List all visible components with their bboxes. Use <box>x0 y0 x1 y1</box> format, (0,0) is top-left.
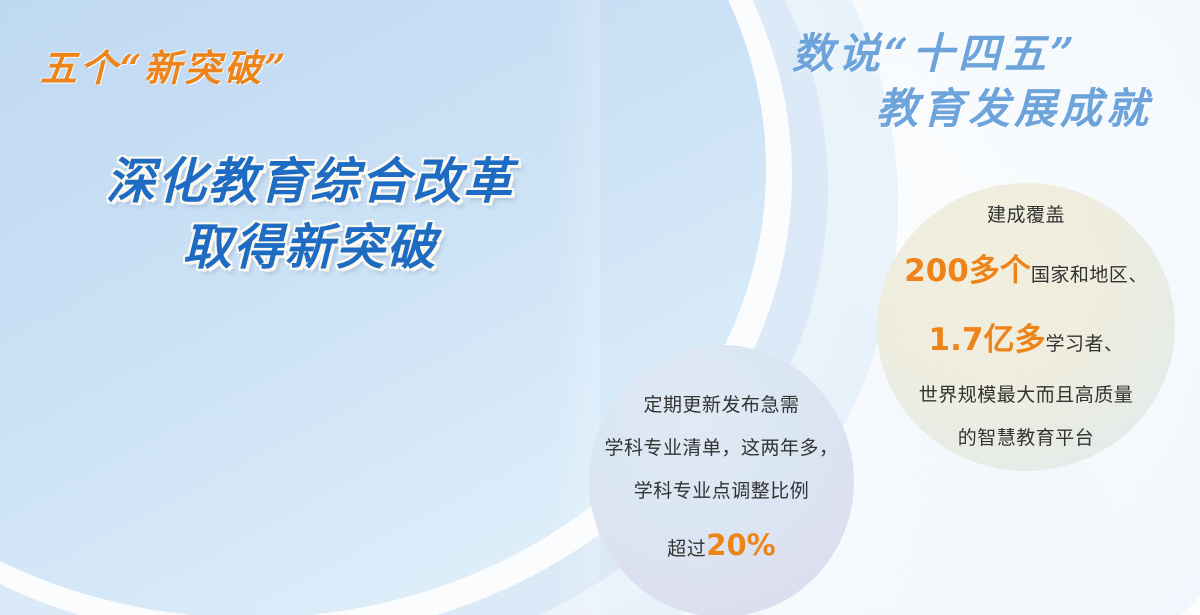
paper-texture-overlay <box>0 0 1200 615</box>
infographic-poster: 五个“新突破” 深化教育综合改革 取得新突破 数说“十四五” 教育发展成就 建成… <box>0 0 1200 615</box>
